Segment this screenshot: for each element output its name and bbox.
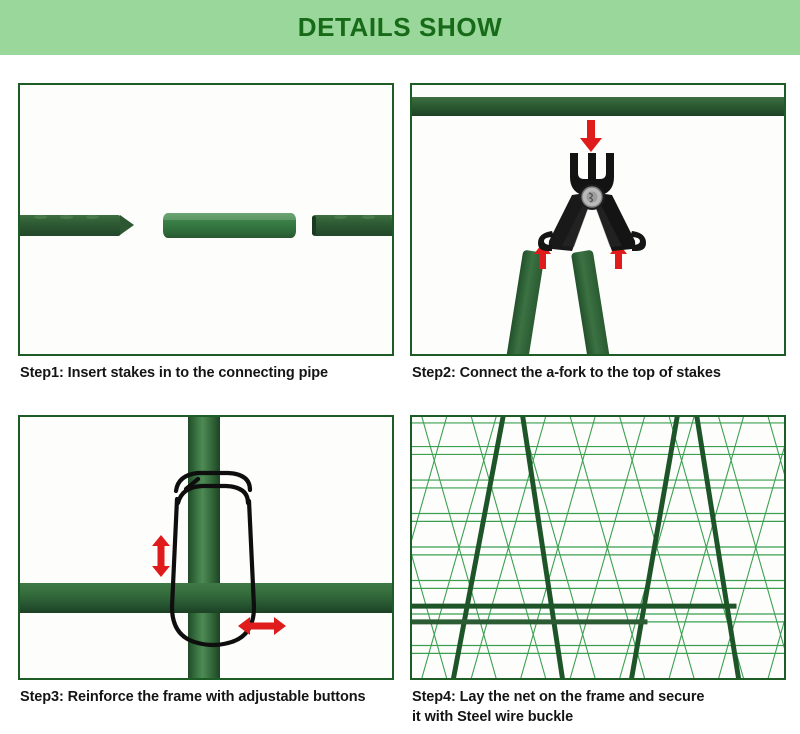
steps-grid: Step1: Insert stakes in to the connectin…	[0, 55, 800, 734]
page-title: DETAILS SHOW	[298, 12, 503, 43]
step-cell-3: Step3: Reinforce the frame with adjustab…	[18, 415, 394, 680]
stake-right	[312, 215, 394, 236]
header-banner: DETAILS SHOW	[0, 0, 800, 55]
step-1-image-panel	[18, 83, 394, 356]
arrow-down-icon	[580, 120, 602, 152]
step-1-illustration	[20, 85, 392, 354]
step-1-caption: Step1: Insert stakes in to the connectin…	[20, 364, 400, 384]
step-2-caption: Step2: Connect the a-fork to the top of …	[412, 364, 792, 384]
arrow-horizontal-icon	[238, 617, 286, 635]
step-3-caption: Step3: Reinforce the frame with adjustab…	[20, 688, 400, 708]
step-2-image-panel	[410, 83, 786, 356]
stake-left	[18, 215, 121, 236]
step-cell-2: Step2: Connect the a-fork to the top of …	[410, 83, 786, 356]
stake-right	[571, 250, 610, 356]
arrow-vertical-icon	[152, 535, 170, 577]
step-cell-1: Step1: Insert stakes in to the connectin…	[18, 83, 394, 356]
step-4-image-panel	[410, 415, 786, 680]
step-3-image-panel	[18, 415, 394, 680]
a-fork-connector	[532, 151, 652, 261]
step-cell-4: Step4: Lay the net on the frame and secu…	[410, 415, 786, 680]
trellis-net	[412, 417, 784, 678]
horizontal-pipe	[412, 97, 784, 116]
connecting-pipe	[163, 213, 296, 238]
step-4-caption: Step4: Lay the net on the frame and secu…	[412, 688, 792, 727]
